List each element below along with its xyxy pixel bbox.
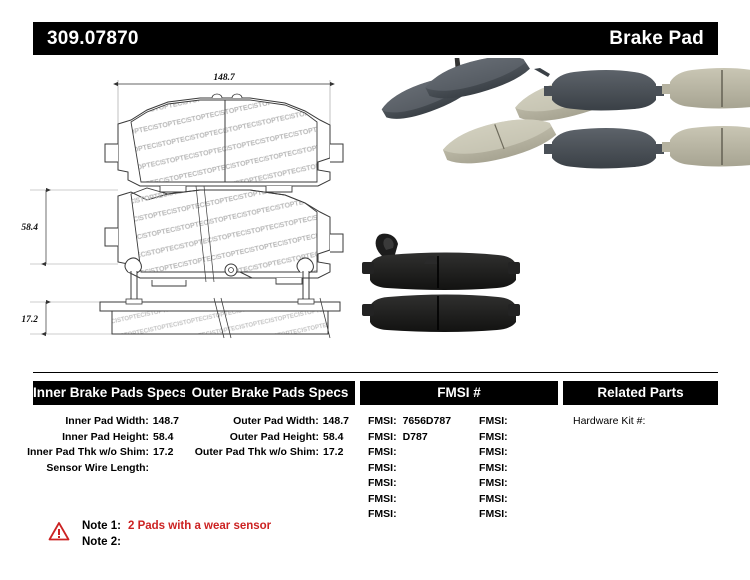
note-label: Note 1: [82, 518, 121, 534]
fmsi-label: FMSI: [479, 430, 508, 446]
part-number: 309.07870 [47, 28, 139, 50]
spec-row: Inner Pad Thk w/o Shim: 17.2 [33, 445, 185, 461]
fmsi-row: FMSI: D787 [368, 430, 451, 446]
fmsi-row: FMSI: [368, 476, 451, 492]
column-related-parts: Related Parts Hardware Kit #: [563, 381, 718, 506]
fmsi-subcolumn-right: FMSI: FMSI: FMSI: FMSI: [479, 414, 514, 523]
notes-section: Note 1: 2 Pads with a wear sensor Note 2… [48, 518, 271, 550]
spec-label: Inner Pad Width: [65, 414, 148, 430]
note-label: Note 2: [82, 534, 121, 550]
note-row: Note 2: [82, 534, 271, 550]
column-header-fmsi: FMSI # [360, 381, 558, 405]
spec-value: 58.4 [153, 430, 179, 446]
header-bar: 309.07870 Brake Pad [33, 22, 718, 55]
fmsi-row: FMSI: [479, 476, 514, 492]
spec-label: Outer Pad Height: [230, 430, 319, 446]
fmsi-label: FMSI: [479, 476, 508, 492]
column-body-fmsi: FMSI: 7656D787 FMSI: D787 FMSI: FMSI: [360, 405, 558, 523]
spec-value [153, 461, 179, 477]
spec-row: Outer Pad Thk w/o Shim: 17.2 [185, 445, 355, 461]
technical-drawings: STOPTECH STOPTECH 148.7 [0, 58, 360, 358]
pad-middle-view: 58.4 [21, 186, 343, 286]
column-header-related-parts: Related Parts [563, 381, 718, 405]
dimension-thickness-label: 17.2 [21, 315, 38, 325]
column-body-related-parts: Hardware Kit #: [563, 405, 718, 430]
fmsi-label: FMSI: [479, 445, 508, 461]
fmsi-row: FMSI: [479, 430, 514, 446]
fmsi-value: D787 [403, 430, 428, 446]
product-photos [360, 58, 750, 358]
note-row: Note 1: 2 Pads with a wear sensor [82, 518, 271, 534]
page-title: Brake Pad [609, 28, 704, 50]
spec-value: 148.7 [153, 414, 179, 430]
spec-row: Outer Pad Height: 58.4 [185, 430, 355, 446]
spec-label: Outer Pad Thk w/o Shim: [195, 445, 319, 461]
fmsi-row: FMSI: [479, 445, 514, 461]
dimension-width-label: 148.7 [213, 73, 236, 83]
fmsi-label: FMSI: [368, 492, 397, 508]
pad-photo-group-edge [362, 234, 520, 332]
fmsi-row: FMSI: [479, 414, 514, 430]
spec-value: 148.7 [323, 414, 349, 430]
specs-table: Inner Brake Pads Specs Inner Pad Width: … [33, 381, 718, 506]
fmsi-label: FMSI: [479, 414, 508, 430]
related-part-row: Hardware Kit #: [563, 414, 718, 430]
spec-row: Inner Pad Height: 58.4 [33, 430, 185, 446]
fmsi-row: FMSI: 7656D787 [368, 414, 451, 430]
spec-value: 17.2 [153, 445, 179, 461]
column-body-inner-specs: Inner Pad Width: 148.7 Inner Pad Height:… [33, 405, 185, 476]
spec-row: Outer Pad Width: 148.7 [185, 414, 355, 430]
note-lines: Note 1: 2 Pads with a wear sensor Note 2… [82, 518, 271, 550]
dimension-height-label: 58.4 [21, 223, 38, 233]
pad-top-view: 148.7 [105, 73, 343, 192]
warning-triangle-icon [48, 521, 70, 541]
fmsi-row: FMSI: [479, 492, 514, 508]
fmsi-label: FMSI: [368, 445, 397, 461]
fmsi-value: 7656D787 [403, 414, 451, 430]
spec-label: Inner Pad Height: [62, 430, 149, 446]
fmsi-label: FMSI: [479, 461, 508, 477]
pad-photo-group-flat [534, 68, 750, 169]
fmsi-label: FMSI: [479, 507, 508, 523]
spec-label: Outer Pad Width: [233, 414, 319, 430]
fmsi-label: FMSI: [368, 414, 397, 430]
brake-pad-drawing-svg: STOPTECH STOPTECH 148.7 [0, 58, 360, 358]
spec-row: Inner Pad Width: 148.7 [33, 414, 185, 430]
fmsi-label: FMSI: [368, 476, 397, 492]
column-fmsi: FMSI # FMSI: 7656D787 FMSI: D787 FMSI: [360, 381, 558, 506]
spec-row: Sensor Wire Length: [33, 461, 185, 477]
column-header-outer-specs: Outer Brake Pads Specs [185, 381, 355, 405]
table-top-divider [33, 372, 718, 373]
spec-label: Sensor Wire Length: [46, 461, 149, 477]
fmsi-label: FMSI: [368, 461, 397, 477]
note-text: 2 Pads with a wear sensor [128, 518, 271, 534]
fmsi-row: FMSI: [368, 445, 451, 461]
fmsi-row: FMSI: [368, 492, 451, 508]
spec-value: 58.4 [323, 430, 349, 446]
spec-value: 17.2 [323, 445, 349, 461]
column-outer-specs: Outer Brake Pads Specs Outer Pad Width: … [185, 381, 355, 506]
column-inner-specs: Inner Brake Pads Specs Inner Pad Width: … [33, 381, 185, 506]
fmsi-row: FMSI: [368, 461, 451, 477]
fmsi-row: FMSI: [368, 507, 451, 523]
fmsi-label: FMSI: [479, 492, 508, 508]
fmsi-label: FMSI: [368, 430, 397, 446]
column-header-inner-specs: Inner Brake Pads Specs [33, 381, 185, 405]
column-body-outer-specs: Outer Pad Width: 148.7 Outer Pad Height:… [185, 405, 355, 461]
product-photo-svg [360, 58, 750, 358]
fmsi-row: FMSI: [479, 507, 514, 523]
fmsi-row: FMSI: [479, 461, 514, 477]
spec-label: Inner Pad Thk w/o Shim: [27, 445, 149, 461]
fmsi-subcolumn-left: FMSI: 7656D787 FMSI: D787 FMSI: FMSI: [368, 414, 451, 523]
fmsi-label: FMSI: [368, 507, 397, 523]
